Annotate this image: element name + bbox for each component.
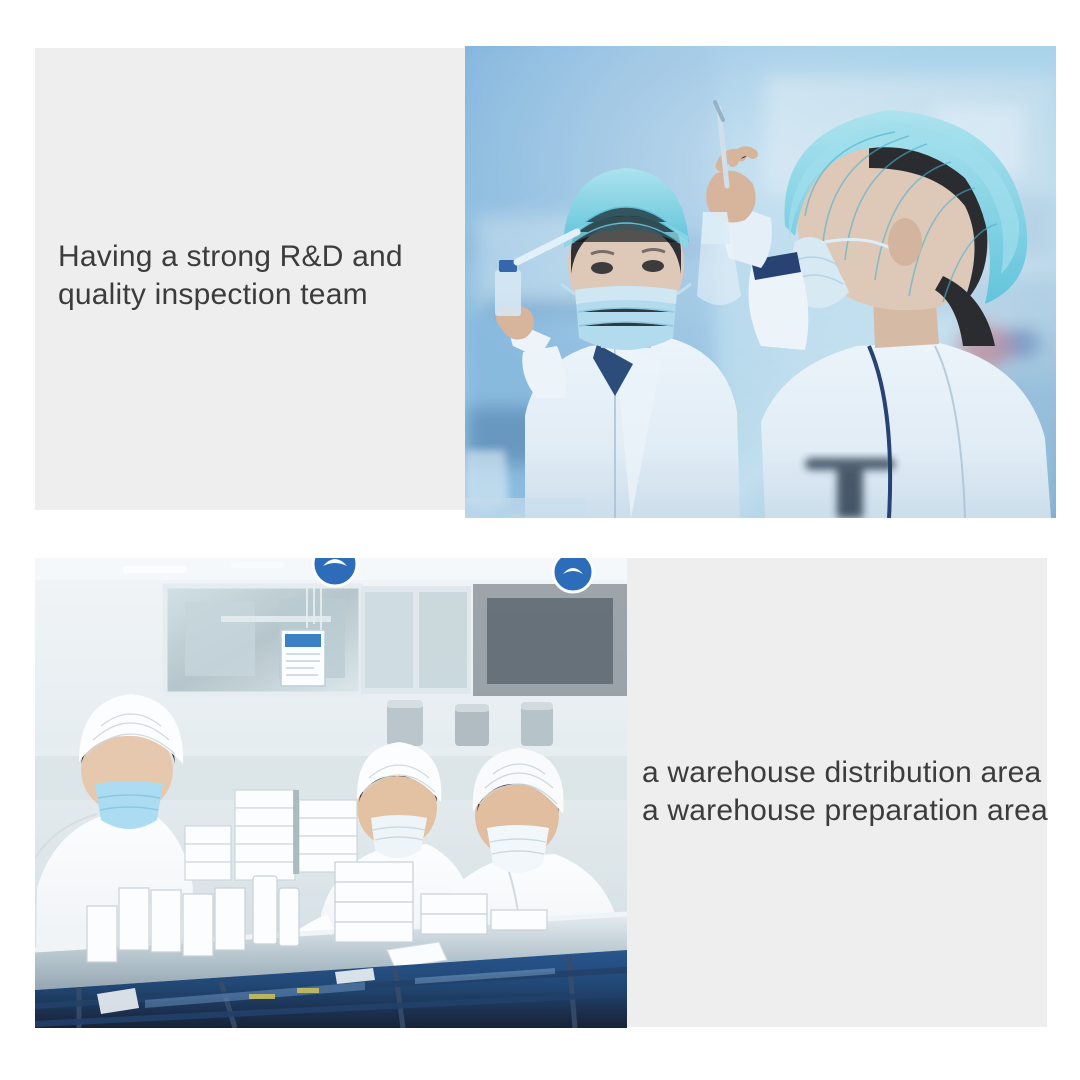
promo-collage: Having a strong R&D and quality inspecti… — [0, 0, 1080, 1080]
section-warehouse-areas: a warehouse distribution area a warehous… — [35, 558, 1047, 1028]
caption-warehouse-areas: a warehouse distribution area a warehous… — [642, 754, 1062, 831]
caption-rd-quality-team: Having a strong R&D and quality inspecti… — [58, 238, 458, 315]
lab-quality-inspection-photo — [465, 46, 1056, 518]
lab-photo-illustration — [465, 46, 1056, 518]
section-rd-quality-team: Having a strong R&D and quality inspecti… — [35, 46, 1056, 518]
warehouse-photo-illustration — [35, 558, 627, 1028]
warehouse-packaging-photo — [35, 558, 627, 1028]
